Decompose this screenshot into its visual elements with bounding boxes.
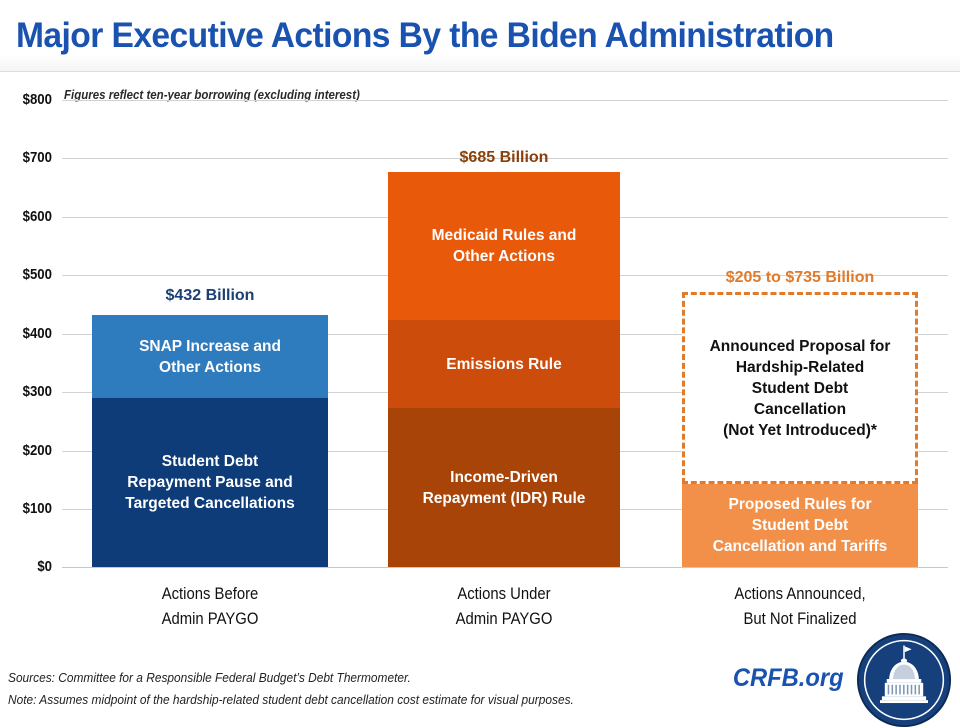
bar-segment-proposed-rules-student-debt-and-tariffs[interactable]: Proposed Rules for Student Debt Cancella… [682,484,918,567]
bar-segment-label: Medicaid Rules and Other Actions [432,225,577,267]
title-band: Major Executive Actions By the Biden Adm… [0,0,960,72]
bar-segment-label: Proposed Rules for Student Debt Cancella… [713,494,888,557]
y-axis-tick-0: $0 [6,558,52,575]
y-axis-tick-400: $400 [6,325,52,342]
bar-group-actions-before-admin-paygo[interactable]: $432 Billion SNAP Increase and Other Act… [92,72,328,567]
bar-segment-emissions-rule[interactable]: Emissions Rule [388,320,620,408]
bar-segment-medicaid-rules-and-other-actions[interactable]: Medicaid Rules and Other Actions [388,172,620,320]
footer: Sources: Committee for a Responsible Fed… [0,650,960,720]
bar-total-label-2: $685 Billion [388,149,620,167]
x-axis-label-actions-announced-but-not-finalized: Actions Announced, But Not Finalized [694,582,906,632]
footnote-note: Note: Assumes midpoint of the hardship-r… [8,692,574,707]
x-axis-label-actions-before-admin-paygo: Actions Before Admin PAYGO [104,582,316,632]
bar-group-actions-announced-but-not-finalized[interactable]: $205 to $735 Billion Announced Proposal … [682,72,918,567]
bar-segment-label: Emissions Rule [446,354,561,375]
bar-segment-label: Announced Proposal for Hardship-Related … [710,336,891,441]
bar-total-label-1: $432 Billion [92,287,328,305]
bar-segment-announced-proposal-hardship-cancellation[interactable]: Announced Proposal for Hardship-Related … [682,292,918,484]
y-axis-tick-300: $300 [6,383,52,400]
bar-segment-label: Student Debt Repayment Pause and Targete… [125,451,294,514]
bar-group-actions-under-admin-paygo[interactable]: $685 Billion Medicaid Rules and Other Ac… [388,72,620,567]
bar-segment-student-debt-repayment-pause[interactable]: Student Debt Repayment Pause and Targete… [92,398,328,567]
bar-segment-income-driven-repayment-rule[interactable]: Income-Driven Repayment (IDR) Rule [388,408,620,567]
y-axis-tick-500: $500 [6,266,52,283]
crfb-wordmark[interactable]: CRFB.org [733,664,844,693]
page-title: Major Executive Actions By the Biden Adm… [16,14,911,58]
chart-plot-area: Figures reflect ten-year borrowing (excl… [0,72,960,650]
y-axis-tick-100: $100 [6,500,52,517]
footnote-sources: Sources: Committee for a Responsible Fed… [8,670,411,685]
x-axis-label-actions-under-admin-paygo: Actions Under Admin PAYGO [400,582,609,632]
y-axis-tick-600: $600 [6,208,52,225]
bar-total-label-3: $205 to $735 Billion [682,269,918,287]
bar-segment-label: Income-Driven Repayment (IDR) Rule [423,467,586,509]
capitol-dome-icon [856,632,952,728]
y-axis-tick-800: $800 [6,91,52,108]
y-axis-tick-700: $700 [6,149,52,166]
gridline-0 [62,567,948,568]
bar-segment-label: SNAP Increase and Other Actions [139,336,281,378]
bar-segment-snap-increase-and-other-actions[interactable]: SNAP Increase and Other Actions [92,315,328,398]
y-axis-tick-200: $200 [6,442,52,459]
